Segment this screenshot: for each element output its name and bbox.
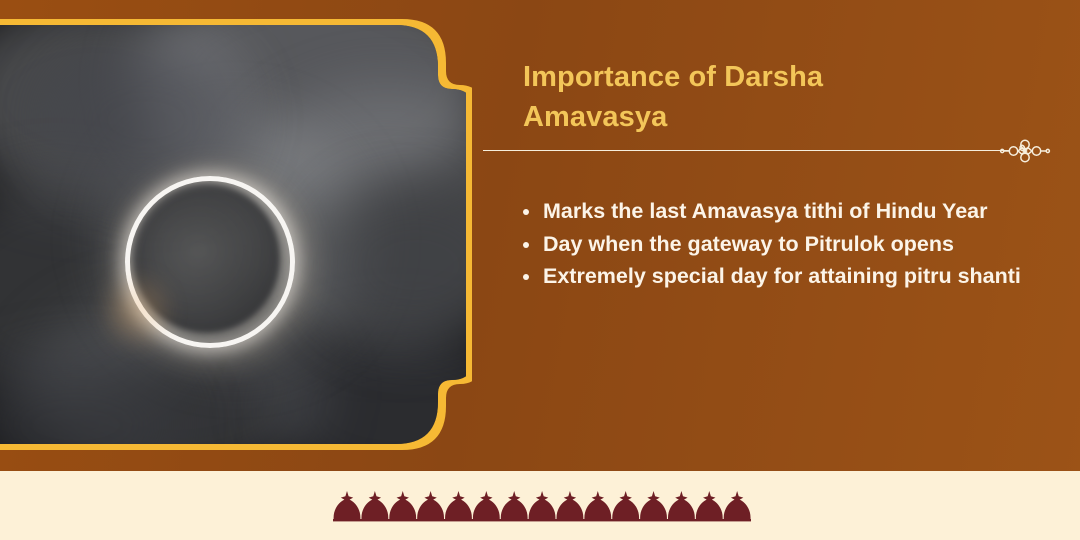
four-lobed-knot-icon bbox=[999, 138, 1051, 164]
list-item-text: Day when the gateway to Pitrulok opens bbox=[543, 232, 954, 256]
footer-band bbox=[0, 471, 1080, 540]
photo-frame bbox=[0, 19, 472, 450]
bullet-dot-icon bbox=[523, 242, 529, 248]
bullet-dot-icon bbox=[523, 274, 529, 280]
list-item-text: Extremely special day for attaining pitr… bbox=[543, 264, 1021, 288]
content-panel: Importance of Darsha Amavasya bbox=[483, 0, 1080, 471]
page-title: Importance of Darsha Amavasya bbox=[523, 57, 953, 137]
eclipse-warm-flare bbox=[102, 263, 172, 359]
slide-canvas: Importance of Darsha Amavasya bbox=[0, 0, 1080, 540]
list-item: Extremely special day for attaining pitr… bbox=[505, 261, 1045, 293]
divider-line bbox=[483, 150, 1010, 151]
list-item: Day when the gateway to Pitrulok opens bbox=[505, 229, 1045, 261]
bullet-dot-icon bbox=[523, 209, 529, 215]
list-item-text: Marks the last Amavasya tithi of Hindu Y… bbox=[543, 199, 988, 223]
list-item: Marks the last Amavasya tithi of Hindu Y… bbox=[505, 196, 1045, 228]
divider bbox=[483, 138, 1050, 164]
eclipse-photo bbox=[0, 25, 466, 444]
temple-dome-border-icon bbox=[333, 491, 751, 523]
bullet-list: Marks the last Amavasya tithi of Hindu Y… bbox=[505, 196, 1045, 294]
